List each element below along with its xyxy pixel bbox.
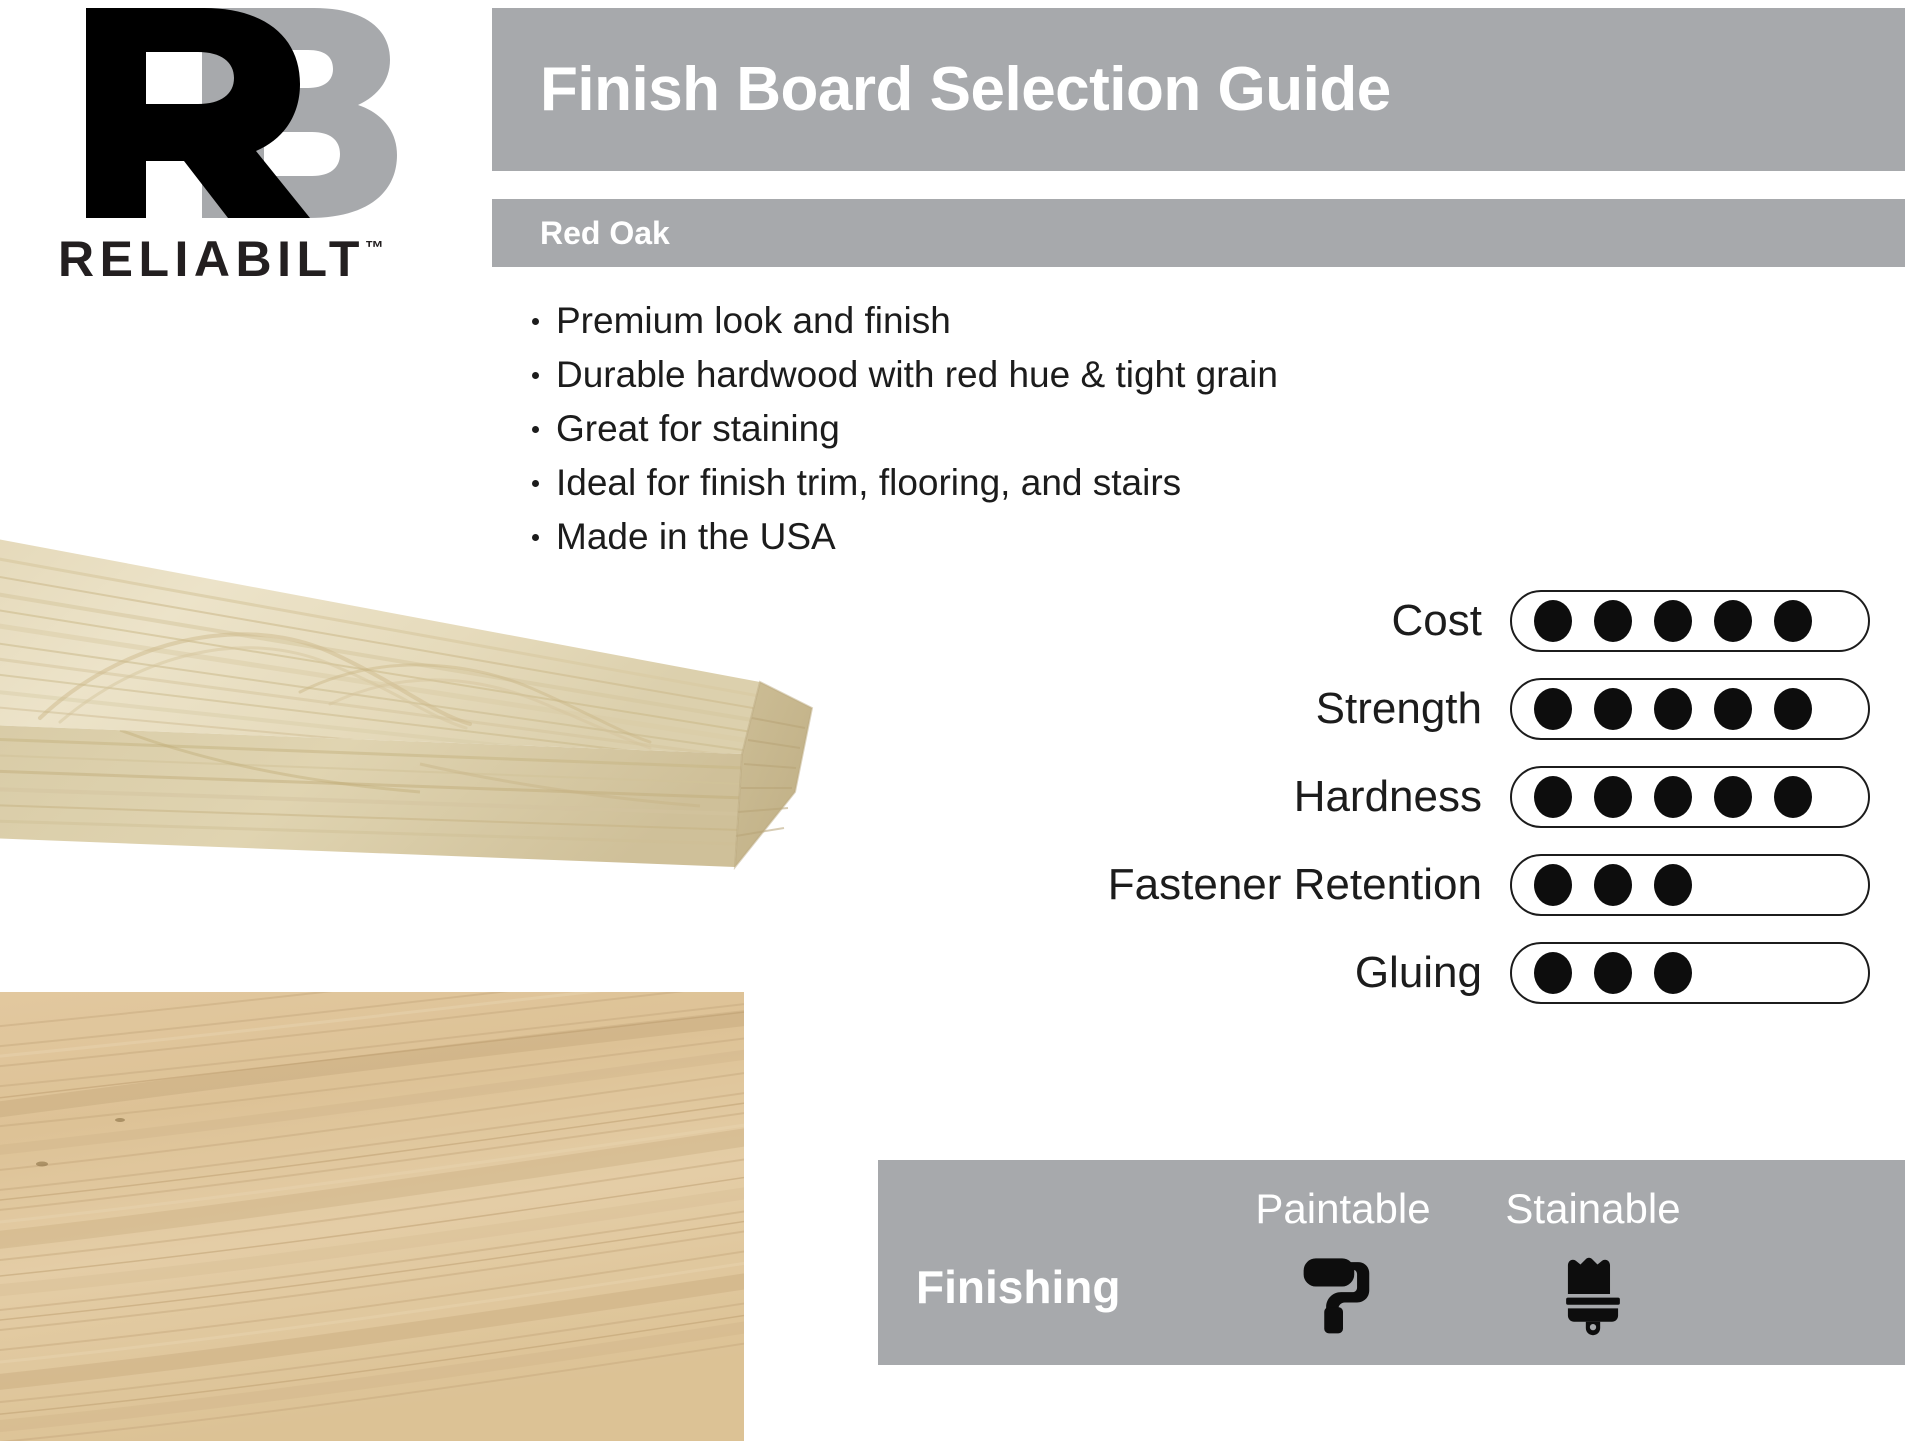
rb-monogram-icon [52, 8, 412, 218]
rating-label: Hardness [1294, 775, 1482, 819]
title-banner: Finish Board Selection Guide [492, 8, 1905, 171]
bullet-dot-icon [532, 372, 539, 379]
rating-dot-filled [1714, 688, 1752, 730]
rating-row-strength: Strength [940, 666, 1870, 752]
rating-dot-filled [1654, 688, 1692, 730]
rating-row-fastener-retention: Fastener Retention [940, 842, 1870, 928]
rating-dot-filled [1654, 952, 1692, 994]
brand-logo: RELIABILT™ [40, 8, 460, 278]
list-item: Premium look and finish [528, 294, 1628, 348]
finishing-option-caption: Stainable [1458, 1188, 1728, 1230]
finishing-bar: Finishing Paintable Stainable [878, 1160, 1905, 1365]
rating-pill [1510, 942, 1870, 1004]
red-oak-grain-swatch [0, 992, 744, 1441]
red-oak-board-photo [0, 492, 870, 922]
rating-pill [1510, 590, 1870, 652]
finishing-option-stainable: Stainable [1458, 1188, 1728, 1342]
paint-roller-icon [1208, 1246, 1478, 1342]
rating-dot-filled [1654, 600, 1692, 642]
bullet-dot-icon [532, 480, 539, 487]
rating-pill [1510, 854, 1870, 916]
rating-label: Strength [1316, 687, 1482, 731]
rating-pill [1510, 766, 1870, 828]
list-item-label: Durable hardwood with red hue & tight gr… [556, 354, 1278, 395]
paint-brush-icon [1458, 1246, 1728, 1342]
rating-dot-empty [1714, 952, 1752, 994]
bullet-dot-icon [532, 318, 539, 325]
rating-dot-filled [1654, 776, 1692, 818]
rating-label: Fastener Retention [1108, 863, 1482, 907]
trademark-symbol: ™ [365, 238, 384, 259]
rating-dot-filled [1654, 864, 1692, 906]
rating-pill [1510, 678, 1870, 740]
rating-dot-filled [1714, 600, 1752, 642]
rating-dot-filled [1594, 776, 1632, 818]
product-name: Red Oak [540, 217, 670, 249]
list-item-label: Great for staining [556, 408, 840, 449]
rating-row-hardness: Hardness [940, 754, 1870, 840]
rating-dot-filled [1534, 776, 1572, 818]
rating-dot-filled [1594, 688, 1632, 730]
rating-dot-filled [1774, 776, 1812, 818]
rating-dot-filled [1714, 776, 1752, 818]
rating-row-gluing: Gluing [940, 930, 1870, 1016]
rating-dot-filled [1594, 864, 1632, 906]
rating-dot-filled [1774, 600, 1812, 642]
wordmark-text: RELIABILT [58, 231, 365, 287]
finishing-option-caption: Paintable [1208, 1188, 1478, 1230]
list-item: Great for staining [528, 402, 1628, 456]
rating-dot-filled [1594, 952, 1632, 994]
finishing-label: Finishing [916, 1264, 1120, 1310]
rating-label: Gluing [1355, 951, 1482, 995]
rating-dot-filled [1534, 688, 1572, 730]
attribute-ratings: Cost Strength Hardness Fastener [940, 578, 1870, 1018]
rating-dot-empty [1714, 864, 1752, 906]
page-title: Finish Board Selection Guide [540, 59, 1391, 121]
brand-wordmark: RELIABILT™ [58, 230, 384, 288]
list-item-label: Premium look and finish [556, 300, 951, 341]
rating-dot-filled [1534, 864, 1572, 906]
rating-dot-filled [1534, 952, 1572, 994]
rating-row-cost: Cost [940, 578, 1870, 664]
rating-dot-empty [1774, 864, 1812, 906]
rating-dot-empty [1774, 952, 1812, 994]
list-item: Durable hardwood with red hue & tight gr… [528, 348, 1628, 402]
finishing-option-paintable: Paintable [1208, 1188, 1478, 1342]
rating-dot-filled [1774, 688, 1812, 730]
subtitle-banner: Red Oak [492, 199, 1905, 267]
rating-dot-filled [1594, 600, 1632, 642]
bullet-dot-icon [532, 426, 539, 433]
rating-dot-filled [1534, 600, 1572, 642]
rating-label: Cost [1392, 599, 1482, 643]
